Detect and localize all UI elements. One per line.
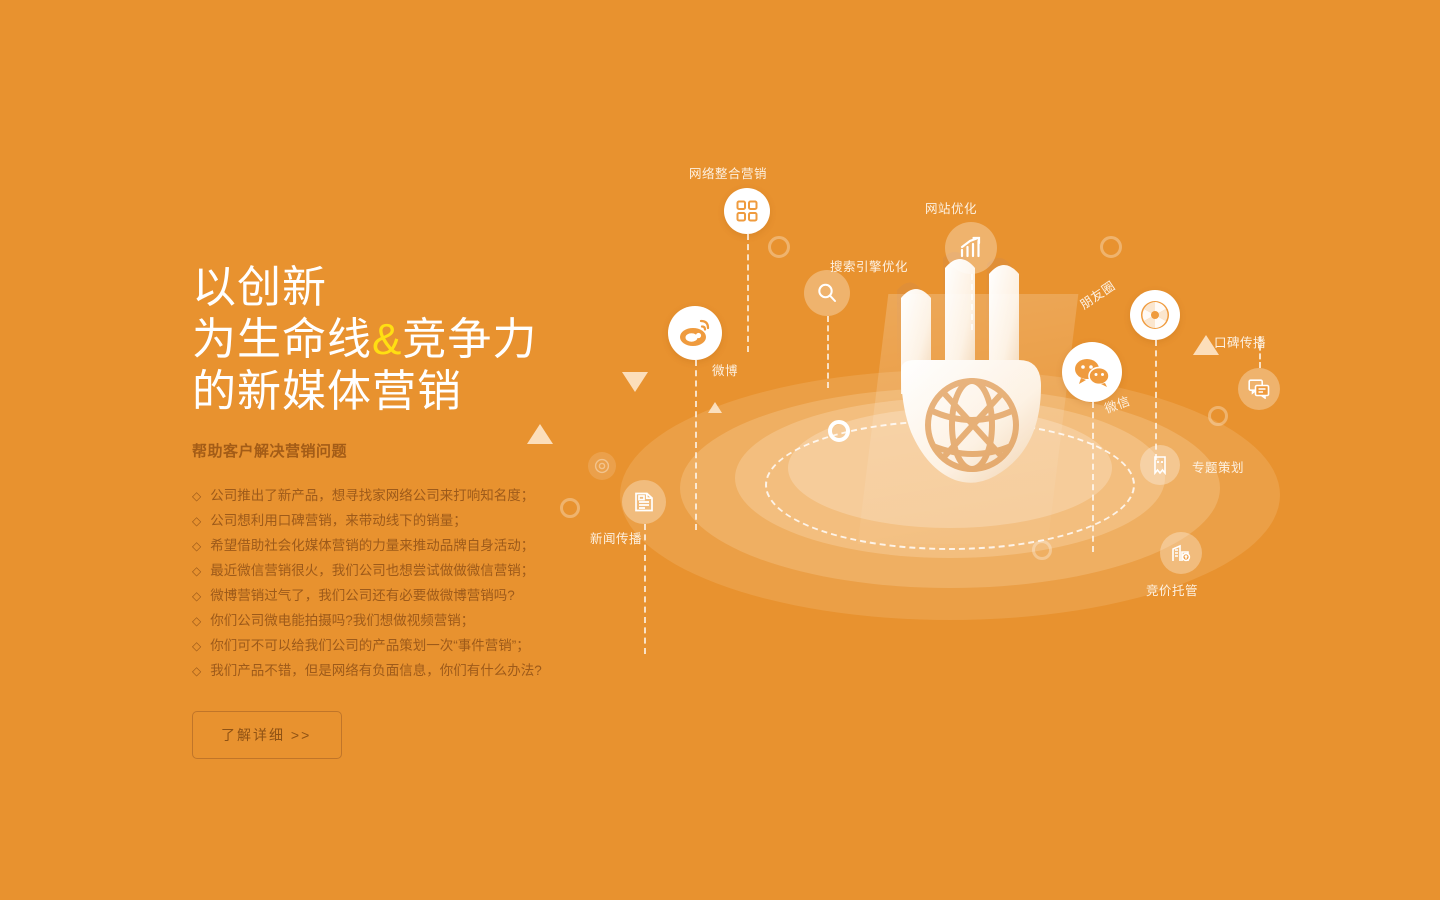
light-beam bbox=[858, 294, 1079, 544]
decor-ring-bright bbox=[828, 420, 850, 442]
diamond-bullet-icon: ◇ bbox=[192, 665, 201, 677]
node-label: 网络整合营销 bbox=[689, 163, 767, 182]
speech-bubbles-icon bbox=[1238, 368, 1280, 410]
connector-line bbox=[644, 524, 646, 654]
node-moments[interactable]: 朋友圈 bbox=[1130, 290, 1180, 340]
news-document-icon bbox=[622, 480, 666, 524]
diamond-bullet-icon: ◇ bbox=[192, 515, 201, 527]
pain-point-list: ◇公司推出了新产品，想寻找家网络公司来打响知名度； ◇公司想利用口碑营销，来带动… bbox=[192, 483, 612, 684]
node-wechat[interactable]: 微信 bbox=[1062, 342, 1122, 402]
node-label: 新闻传播 bbox=[590, 528, 642, 547]
diamond-bullet-icon: ◇ bbox=[192, 540, 201, 552]
connector-line bbox=[971, 274, 973, 330]
list-item-label: 公司想利用口碑营销，来带动线下的销量； bbox=[210, 514, 467, 528]
headline-line-1: 以创新 bbox=[192, 262, 612, 314]
headline-line-2: 为生命线&竞争力 bbox=[192, 314, 612, 366]
decor-ring bbox=[1208, 406, 1228, 426]
headline-line-3: 的新媒体营销 bbox=[192, 366, 612, 418]
node-label: 专题策划 bbox=[1192, 457, 1244, 476]
decor-triangle-down bbox=[622, 372, 648, 392]
connector-line bbox=[695, 360, 697, 530]
diamond-bullet-icon: ◇ bbox=[192, 565, 201, 577]
list-item: ◇公司想利用口碑营销，来带动线下的销量； bbox=[192, 508, 612, 533]
bar-chart-arrow-icon bbox=[945, 222, 997, 274]
weibo-icon bbox=[668, 306, 722, 360]
node-label: 网站优化 bbox=[925, 198, 977, 217]
list-item: ◇我们产品不错，但是网络有负面信息，你们有什么办法? bbox=[192, 658, 612, 683]
bidding-chart-icon bbox=[1160, 532, 1202, 574]
learn-more-button[interactable]: 了解详细 >> bbox=[192, 711, 342, 759]
list-item-label: 最近微信营销很火，我们公司也想尝试做做微信营销； bbox=[210, 564, 534, 578]
list-item-label: 微博营销过气了，我们公司还有必要做微博营销吗? bbox=[210, 589, 515, 603]
headline-line-2-tail: 竞争力 bbox=[402, 315, 537, 364]
decor-ring bbox=[768, 236, 790, 258]
wechat-icon bbox=[1062, 342, 1122, 402]
compass-deco-icon bbox=[588, 452, 616, 480]
node-weibo[interactable]: 微博 bbox=[668, 306, 722, 360]
list-item: ◇微博营销过气了，我们公司还有必要做微博营销吗? bbox=[192, 583, 612, 608]
connector-line bbox=[1092, 402, 1094, 552]
hero-copy-block: 以创新 为生命线&竞争力 的新媒体营销 帮助客户解决营销问题 ◇公司推出了新产品… bbox=[192, 262, 612, 759]
page-title: 以创新 为生命线&竞争力 的新媒体营销 bbox=[192, 262, 612, 418]
marketing-illustration: 网络整合营销 搜索引擎优化 bbox=[560, 120, 1340, 680]
diamond-bullet-icon: ◇ bbox=[192, 490, 201, 502]
list-item: ◇公司推出了新产品，想寻找家网络公司来打响知名度； bbox=[192, 483, 612, 508]
connector-line bbox=[827, 316, 829, 388]
node-label: 搜索引擎优化 bbox=[830, 256, 908, 275]
decor-ring bbox=[560, 498, 580, 518]
headline-line-2-head: 为生命线 bbox=[192, 315, 372, 364]
hand-holding-globe-icon bbox=[845, 250, 1060, 520]
list-item: ◇你们可不可以给我们公司的产品策划一次“事件营销”； bbox=[192, 633, 612, 658]
grid-squares-icon bbox=[724, 188, 770, 234]
list-item-label: 公司推出了新产品，想寻找家网络公司来打响知名度； bbox=[210, 489, 534, 503]
node-bidding-hosting[interactable]: 竞价托管 bbox=[1160, 532, 1202, 574]
node-integrated-marketing[interactable]: 网络整合营销 bbox=[724, 188, 770, 234]
node-label: 口碑传播 bbox=[1214, 332, 1266, 351]
magnifier-icon bbox=[804, 270, 850, 316]
node-website-optimization[interactable]: 网站优化 bbox=[945, 222, 997, 274]
list-item: ◇最近微信营销很火，我们公司也想尝试做做微信营销； bbox=[192, 558, 612, 583]
list-item: ◇希望借助社会化媒体营销的力量来推动品牌自身活动； bbox=[192, 533, 612, 558]
list-item-label: 你们可不可以给我们公司的产品策划一次“事件营销”； bbox=[210, 639, 530, 653]
node-label: 竞价托管 bbox=[1146, 580, 1198, 599]
decor-ring bbox=[1032, 540, 1052, 560]
list-item: ◇你们公司微电能拍摄吗?我们想做视频营销； bbox=[192, 608, 612, 633]
list-item-label: 我们产品不错，但是网络有负面信息，你们有什么办法? bbox=[210, 664, 542, 678]
node-topic-planning[interactable]: 专题策划 bbox=[1140, 445, 1180, 485]
diamond-bullet-icon: ◇ bbox=[192, 590, 201, 602]
camera-aperture-icon bbox=[1130, 290, 1180, 340]
ampersand-accent: & bbox=[372, 315, 402, 364]
node-label: 微博 bbox=[712, 360, 738, 379]
decor-triangle-up bbox=[1193, 335, 1219, 355]
decor-triangle-copy bbox=[527, 424, 553, 444]
connector-line bbox=[1155, 340, 1157, 460]
node-word-of-mouth[interactable]: 口碑传播 bbox=[1238, 368, 1280, 410]
decor-ring bbox=[1100, 236, 1122, 258]
diamond-bullet-icon: ◇ bbox=[192, 640, 201, 652]
node-news-distribution[interactable]: 新闻传播 bbox=[622, 480, 666, 524]
diamond-bullet-icon: ◇ bbox=[192, 615, 201, 627]
list-item-label: 你们公司微电能拍摄吗?我们想做视频营销； bbox=[210, 614, 474, 628]
bookmark-badge-icon bbox=[1140, 445, 1180, 485]
node-seo[interactable]: 搜索引擎优化 bbox=[804, 270, 850, 316]
node-label: 朋友圈 bbox=[1075, 275, 1118, 313]
connector-line bbox=[747, 234, 749, 352]
list-item-label: 希望借助社会化媒体营销的力量来推动品牌自身活动； bbox=[210, 539, 534, 553]
decor-triangle-small bbox=[708, 402, 722, 413]
